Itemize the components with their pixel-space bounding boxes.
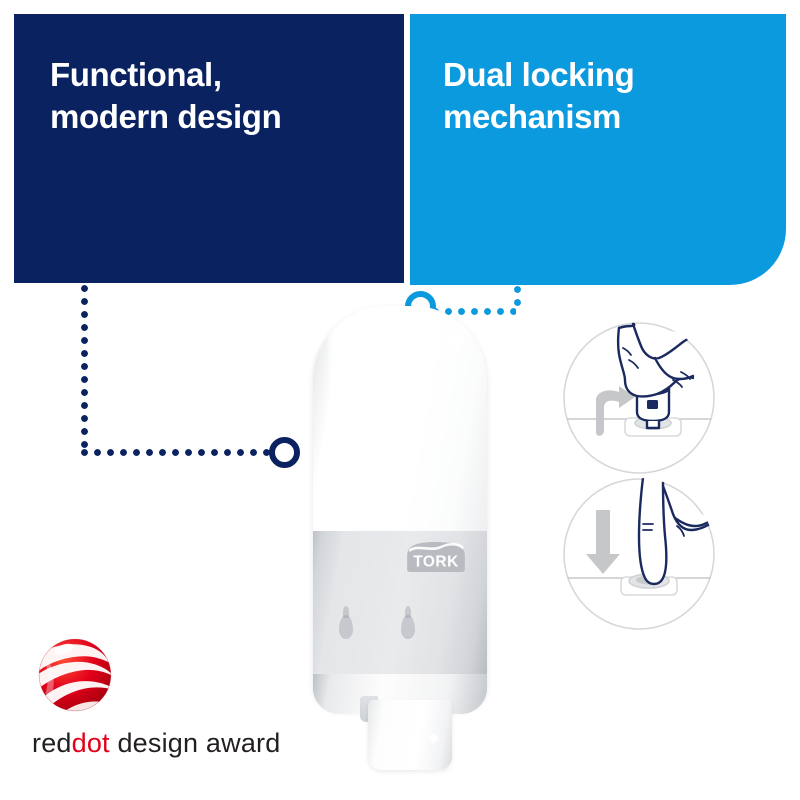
instruction-thumb-turn-key (563, 322, 715, 474)
reddot-sphere-icon (36, 636, 114, 714)
reddot-word-red: red (32, 728, 72, 758)
soap-drop-icon (339, 615, 353, 639)
lever-highlight (429, 734, 438, 743)
callout-marker-navy (269, 437, 300, 468)
panel-dual-locking-mechanism: Dual locking mechanism (410, 14, 786, 285)
panel-left-title: Functional, modern design (50, 54, 281, 137)
reddot-word-dot: dot (72, 728, 110, 758)
callout-line-navy-vertical (81, 285, 88, 455)
tork-soap-dispenser: TORK (305, 306, 495, 766)
panel-functional-modern-design: Functional, modern design (14, 14, 404, 283)
dispenser-push-lever (368, 700, 452, 770)
reddot-wordmark: reddot design award (32, 728, 280, 759)
tork-logo: TORK (405, 540, 467, 574)
dispenser-highlight-right (449, 330, 465, 352)
product-feature-graphic: Functional, modern design Dual locking m… (0, 0, 800, 800)
soap-drop-icon (401, 615, 415, 639)
panel-right-title: Dual locking mechanism (443, 54, 634, 137)
callout-line-navy-horizontal (81, 449, 274, 456)
reddot-design-award-logo: reddot design award (32, 636, 272, 768)
reddot-word-design-award: design award (110, 728, 281, 758)
svg-text:TORK: TORK (413, 553, 459, 570)
instruction-thumb-press-down (563, 478, 715, 630)
